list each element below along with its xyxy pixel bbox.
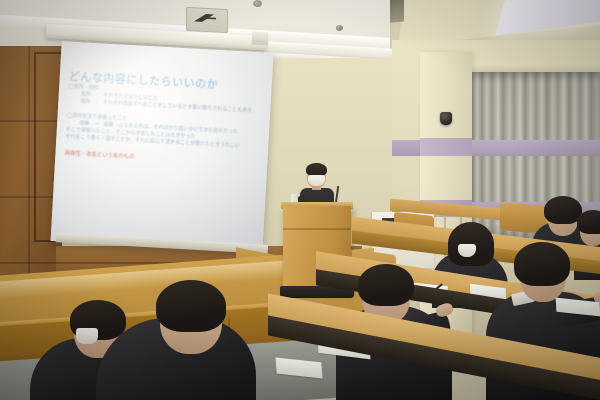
- podium-groove: [283, 228, 351, 230]
- lecture-hall-photo: どんな内容にしたらいいのか ◯長所・短所 長所 ： それぞれすばらしいこと 短所…: [0, 0, 600, 400]
- student-hair: [514, 242, 570, 286]
- sprinkler-head-icon: [336, 25, 343, 31]
- screen-glare: [51, 41, 203, 169]
- projection-screen-housing-cap: [252, 32, 269, 46]
- wood-panel-seam: [0, 262, 62, 264]
- face-mask-icon: [76, 328, 98, 344]
- student-hair: [358, 264, 414, 306]
- wall-accent-stripe: [420, 138, 472, 156]
- sprinkler-head-icon: [253, 0, 262, 7]
- student-hair: [577, 210, 600, 234]
- wall-speaker-icon: [440, 112, 452, 125]
- air-vent-glyph-icon: [192, 11, 218, 25]
- face-mask-icon: [308, 175, 325, 186]
- projection-screen: どんな内容にしたらいいのか ◯長所・短所 長所 ： それぞれすばらしいこと 短所…: [51, 41, 274, 253]
- student-hair: [156, 280, 226, 332]
